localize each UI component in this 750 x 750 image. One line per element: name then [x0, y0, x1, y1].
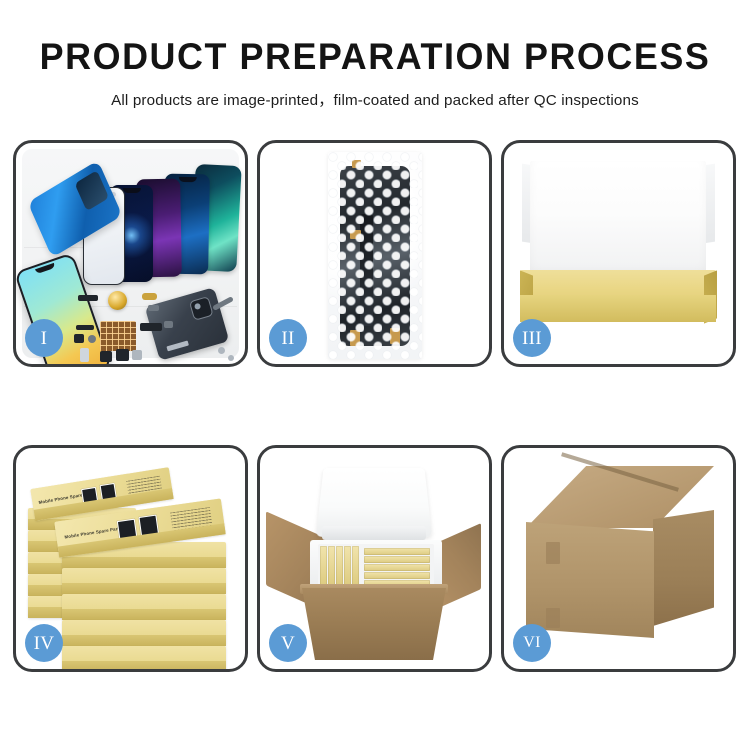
packed-yellow-box [364, 572, 430, 579]
part-strip [76, 325, 94, 330]
box-side [62, 661, 226, 669]
bubble-wrap-bag [328, 152, 422, 359]
part-strip [78, 295, 98, 301]
part-screw [218, 347, 225, 354]
carton-right-face [653, 510, 714, 626]
box-side [62, 583, 226, 594]
carton-body [302, 588, 446, 660]
carton-tape-upper [546, 542, 560, 564]
part-bracket [132, 350, 142, 360]
step-badge-3: III [513, 319, 551, 357]
packed-yellow-box [352, 546, 359, 586]
process-step-4[interactable]: Mobile Phone Spare Parts Mobile Phone Sp… [13, 445, 248, 672]
contact-pad-matrix-part [100, 321, 136, 351]
step-badge-4: IV [25, 624, 63, 662]
box-side [62, 557, 226, 568]
bubble-texture-front [328, 152, 422, 359]
part-chip [116, 349, 129, 361]
carton-tape-lower [546, 608, 560, 628]
step-badge-5: V [269, 624, 307, 662]
part-button [88, 335, 96, 343]
step-badge-6: VI [513, 624, 551, 662]
step-badge-1: I [25, 319, 63, 357]
stacked-box [62, 568, 226, 594]
box-side [62, 635, 226, 646]
step-badge-2: II [269, 319, 307, 357]
process-step-6[interactable]: VI [501, 445, 736, 672]
stacked-box [62, 594, 226, 620]
phone-notch [178, 177, 196, 182]
process-step-2[interactable]: II [257, 140, 492, 367]
packed-yellow-box [364, 556, 430, 563]
phone-notch [123, 188, 141, 193]
part-connector [148, 305, 159, 311]
part-camera-lens [80, 348, 89, 362]
page-subtitle: All products are image-printed，film-coat… [0, 88, 750, 110]
housing-label [166, 340, 189, 351]
packed-yellow-box [364, 564, 430, 571]
packed-yellow-box [320, 546, 327, 586]
speaker-coil-part [108, 291, 127, 310]
process-step-grid: I II III [13, 140, 737, 672]
camera-module-icon [189, 296, 214, 321]
box-tray-front [520, 295, 716, 322]
part-block [74, 334, 84, 343]
part-chip [100, 351, 112, 362]
part-screw [228, 355, 234, 361]
box-lid-white [530, 161, 706, 277]
packed-yellow-box [344, 546, 351, 586]
stacked-box [62, 646, 226, 669]
packed-yellow-box [328, 546, 335, 586]
foam-cooler-lid-lip [322, 526, 426, 540]
part-flex-cable [140, 323, 162, 331]
box-side [62, 609, 226, 620]
process-step-5[interactable]: V [257, 445, 492, 672]
process-step-3[interactable]: III [501, 140, 736, 367]
packed-yellow-box [336, 546, 343, 586]
page-header: PRODUCT PREPARATION PROCESS All products… [0, 0, 750, 110]
stacked-box [62, 620, 226, 646]
packed-yellow-box [364, 548, 430, 555]
part-connector [164, 321, 173, 328]
process-step-1[interactable]: I [13, 140, 248, 367]
part-flex-gold [142, 293, 157, 300]
page-title: PRODUCT PREPARATION PROCESS [11, 38, 739, 77]
